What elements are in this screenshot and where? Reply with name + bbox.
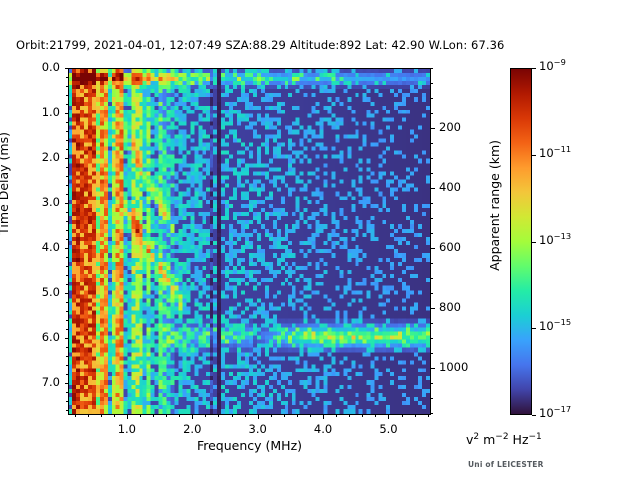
y-tick-major (65, 203, 69, 204)
y2-tick-minor (431, 263, 433, 264)
x-tick-minor (375, 415, 376, 417)
y-tick-minor (66, 311, 68, 312)
y-tick-label: 0.0 (32, 60, 60, 74)
y2-tick-minor (431, 278, 433, 279)
institution-credit: Uni of LEICESTER (468, 460, 544, 469)
y-tick-minor (66, 185, 68, 186)
colorbar-tick-label: 10−11 (539, 146, 571, 160)
x-tick-label: 2.0 (172, 422, 212, 436)
colorbar (510, 68, 532, 415)
y-tick-minor (66, 221, 68, 222)
y2-tick-minor (431, 398, 433, 399)
colorbar-tick (532, 415, 536, 416)
y2-tick-minor (431, 158, 433, 159)
y2-tick-minor (431, 98, 433, 99)
y2-tick-minor (431, 218, 433, 219)
x-tick-minor (402, 415, 403, 417)
y-tick-minor (66, 392, 68, 393)
x-tick-minor (284, 415, 285, 417)
y2-tick-label: 400 (439, 180, 461, 194)
y-tick-minor (66, 329, 68, 330)
colorbar-gradient (511, 69, 531, 414)
x-tick-minor (75, 415, 76, 417)
y2-tick-label: 1000 (439, 360, 468, 374)
x-tick-minor (140, 415, 141, 417)
y2-tick-minor (431, 413, 433, 414)
y-tick-minor (66, 302, 68, 303)
secondary-y-axis-label: Apparent range (km) (487, 140, 502, 271)
x-tick-minor (336, 415, 337, 417)
y-tick-major (65, 113, 69, 114)
y2-tick-minor (431, 68, 433, 69)
y-tick-minor (66, 320, 68, 321)
x-tick-major (388, 415, 389, 419)
y2-tick-minor (431, 323, 433, 324)
x-tick-major (127, 415, 128, 419)
x-tick-major (192, 415, 193, 419)
y2-tick-minor (431, 293, 433, 294)
y2-tick-label: 600 (439, 240, 461, 254)
y-tick-minor (66, 374, 68, 375)
y2-tick-minor (431, 353, 433, 354)
x-tick-minor (310, 415, 311, 417)
colorbar-unit-label: v2 m−2 Hz−1 (466, 432, 542, 447)
x-tick-label: 4.0 (303, 422, 343, 436)
y2-tick-minor (431, 173, 433, 174)
y-tick-minor (66, 140, 68, 141)
colorbar-tick-label: 10−13 (539, 233, 571, 247)
y2-tick-major (431, 248, 435, 249)
y-tick-major (65, 68, 69, 69)
x-tick-minor (101, 415, 102, 417)
x-tick-minor (218, 415, 219, 417)
y-tick-minor (66, 347, 68, 348)
x-tick-minor (428, 415, 429, 417)
x-tick-minor (153, 415, 154, 417)
y2-tick-minor (431, 233, 433, 234)
y2-tick-major (431, 128, 435, 129)
y2-tick-label: 800 (439, 300, 461, 314)
figure-title: Orbit:21799, 2021-04-01, 12:07:49 SZA:88… (16, 38, 504, 52)
y-tick-minor (66, 122, 68, 123)
y-tick-minor (66, 410, 68, 411)
y-tick-label: 2.0 (32, 150, 60, 164)
y2-tick-minor (431, 143, 433, 144)
x-tick-minor (179, 415, 180, 417)
x-axis-label: Frequency (MHz) (68, 438, 431, 453)
y2-tick-minor (431, 338, 433, 339)
y-tick-major (65, 338, 69, 339)
y-tick-major (65, 248, 69, 249)
y-tick-minor (66, 356, 68, 357)
colorbar-tick (532, 328, 536, 329)
x-tick-label: 3.0 (238, 422, 278, 436)
y-tick-minor (66, 95, 68, 96)
x-tick-major (258, 415, 259, 419)
y-tick-minor (66, 284, 68, 285)
y-tick-minor (66, 365, 68, 366)
y2-tick-major (431, 368, 435, 369)
y-tick-minor (66, 77, 68, 78)
x-tick-minor (362, 415, 363, 417)
colorbar-tick (532, 155, 536, 156)
y-tick-major (65, 158, 69, 159)
x-tick-minor (166, 415, 167, 417)
x-tick-minor (245, 415, 246, 417)
y-tick-minor (66, 176, 68, 177)
x-tick-minor (114, 415, 115, 417)
y-tick-minor (66, 194, 68, 195)
y-tick-major (65, 293, 69, 294)
y2-tick-label: 200 (439, 120, 461, 134)
y-axis-label: Time Delay (ms) (0, 132, 11, 235)
x-tick-major (323, 415, 324, 419)
x-tick-minor (415, 415, 416, 417)
y-tick-minor (66, 239, 68, 240)
x-tick-label: 5.0 (368, 422, 408, 436)
y-tick-minor (66, 266, 68, 267)
x-tick-minor (232, 415, 233, 417)
axis-ticks-layer (68, 68, 431, 415)
x-tick-minor (88, 415, 89, 417)
y-tick-minor (66, 401, 68, 402)
y-tick-label: 6.0 (32, 330, 60, 344)
x-tick-minor (271, 415, 272, 417)
y-tick-label: 3.0 (32, 195, 60, 209)
y-tick-label: 5.0 (32, 285, 60, 299)
colorbar-tick (532, 68, 536, 69)
y-tick-minor (66, 86, 68, 87)
y2-tick-minor (431, 83, 433, 84)
y-tick-minor (66, 104, 68, 105)
x-tick-minor (349, 415, 350, 417)
y-tick-minor (66, 167, 68, 168)
y-tick-label: 7.0 (32, 375, 60, 389)
x-tick-label: 1.0 (107, 422, 147, 436)
y-tick-minor (66, 149, 68, 150)
y-tick-label: 4.0 (32, 240, 60, 254)
x-tick-minor (297, 415, 298, 417)
colorbar-tick-label: 10−9 (539, 59, 566, 73)
y-tick-minor (66, 257, 68, 258)
y2-tick-major (431, 308, 435, 309)
y-tick-minor (66, 131, 68, 132)
y-tick-label: 1.0 (32, 105, 60, 119)
y2-tick-major (431, 188, 435, 189)
y-tick-major (65, 383, 69, 384)
y-tick-minor (66, 275, 68, 276)
y2-tick-minor (431, 203, 433, 204)
colorbar-tick (532, 242, 536, 243)
y-tick-minor (66, 230, 68, 231)
y2-tick-minor (431, 113, 433, 114)
y-tick-minor (66, 212, 68, 213)
colorbar-tick-label: 10−15 (539, 319, 571, 333)
x-tick-minor (205, 415, 206, 417)
colorbar-tick-label: 10−17 (539, 406, 571, 420)
y2-tick-minor (431, 383, 433, 384)
